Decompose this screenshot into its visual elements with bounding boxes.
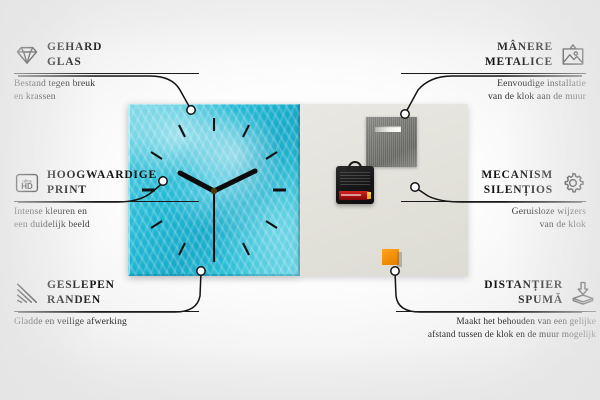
feature-title: DISTANȚIERSPUMĂ bbox=[484, 278, 563, 307]
feature-divider bbox=[14, 311, 199, 312]
feature-description: Bestand tegen breuken krassen bbox=[14, 78, 199, 103]
feature-header: MÂNEREMETALICE bbox=[401, 40, 586, 69]
feature-title: GEHARDGLAS bbox=[47, 40, 102, 69]
mechanism-label bbox=[340, 172, 370, 185]
mechanism-hanger-loop bbox=[348, 161, 362, 169]
foam-spacer-shadow bbox=[397, 252, 402, 267]
hanger-slot bbox=[375, 126, 401, 132]
foam-spacer bbox=[382, 249, 399, 265]
feature-description: Eenvoudige installatievan de klok aan de… bbox=[401, 78, 586, 103]
feature-divider bbox=[401, 73, 586, 74]
feature-title: MECANISMSILENȚIOS bbox=[481, 168, 553, 197]
feature-description: Maakt het behouden van een gelijkeafstan… bbox=[396, 316, 596, 341]
metal-hanger-plate bbox=[366, 117, 417, 167]
feature-header: DISTANȚIERSPUMĂ bbox=[396, 278, 596, 307]
infographic-canvas: GEHARDGLAS Bestand tegen breuken krassen… bbox=[0, 0, 600, 400]
diamond-icon bbox=[14, 42, 40, 68]
feature-divider bbox=[14, 201, 199, 202]
feature-header: MECANISMSILENȚIOS bbox=[401, 168, 586, 197]
feature-title: MÂNEREMETALICE bbox=[485, 40, 553, 69]
feature-divider bbox=[401, 201, 586, 202]
feature-manere-metalice: MÂNEREMETALICE Eenvoudige installatievan… bbox=[401, 40, 586, 104]
beveled-edges-icon bbox=[14, 280, 40, 306]
ultra-hd-icon: ultra HD bbox=[14, 170, 40, 196]
feature-title: GESLEPENRANDEN bbox=[47, 278, 115, 307]
feature-geslepen-randen: GESLEPENRANDEN Gladde en veilige afwerki… bbox=[14, 278, 199, 329]
feature-distantier-spuma: DISTANȚIERSPUMĂ Maakt het behouden van e… bbox=[396, 278, 596, 342]
metal-grain bbox=[366, 117, 417, 167]
feature-description: Gladde en veilige afwerking bbox=[14, 316, 199, 329]
feature-hoogwaardige-print: ultra HD HOOGWAARDIGEPRINT Intense kleur… bbox=[14, 168, 199, 232]
battery-stripe bbox=[341, 194, 361, 196]
battery bbox=[339, 191, 369, 200]
feature-header: GEHARDGLAS bbox=[14, 40, 199, 69]
foam-spacer-icon bbox=[570, 280, 596, 306]
ultra-hd-large-text: HD bbox=[21, 182, 33, 191]
gear-icon bbox=[560, 170, 586, 196]
clock-mechanism bbox=[336, 166, 374, 204]
feature-divider bbox=[14, 73, 199, 74]
feature-description: Intense kleuren eneen duidelijk beeld bbox=[14, 206, 199, 231]
feature-gehard-glas: GEHARDGLAS Bestand tegen breuken krassen bbox=[14, 40, 199, 104]
hanging-frame-icon bbox=[560, 42, 586, 68]
feature-title: HOOGWAARDIGEPRINT bbox=[47, 168, 157, 197]
feature-header: ultra HD HOOGWAARDIGEPRINT bbox=[14, 168, 199, 197]
feature-description: Geruisloze wijzersvan de klok bbox=[401, 206, 586, 231]
feature-header: GESLEPENRANDEN bbox=[14, 278, 199, 307]
battery-tip bbox=[367, 192, 371, 199]
feature-mecanism-silentios: MECANISMSILENȚIOS Geruisloze wijzersvan … bbox=[401, 168, 586, 232]
feature-divider bbox=[396, 311, 596, 312]
